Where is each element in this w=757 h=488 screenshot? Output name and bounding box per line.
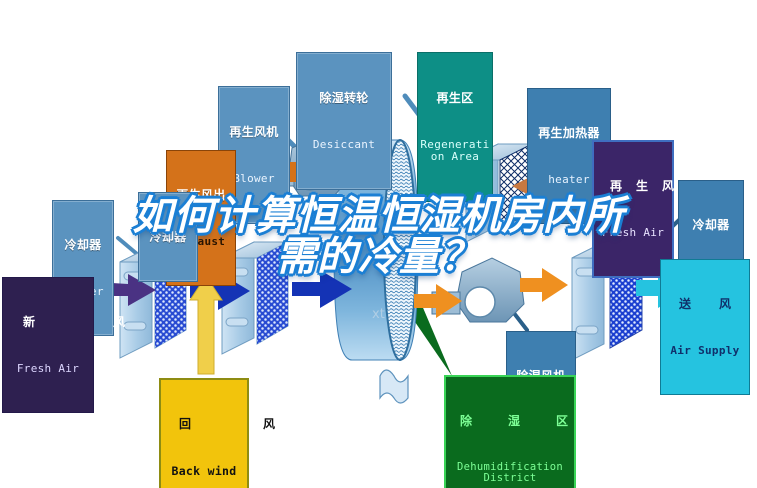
label-fresh-air-in-cn: 新 风 <box>5 316 91 329</box>
label-desiccant-wheel-cn: 除湿转轮 <box>299 92 389 105</box>
headline-line-2: 需的冷量？ <box>0 237 757 278</box>
label-dehumid-area: 除 湿 区 Dehumidification District <box>444 375 576 488</box>
label-air-supply: 送 风 Air Supply <box>660 259 750 395</box>
label-desiccant-wheel-en: Desiccant <box>299 139 389 151</box>
label-regen-area-cn: 再生区 <box>420 92 490 105</box>
headline-line-1: 如何计算恒温恒湿机房内所 <box>133 193 625 239</box>
label-desiccant-wheel: 除湿转轮 Desiccant <box>296 52 392 190</box>
headline-overlay: 如何计算恒温恒湿机房内所 需的冷量？ <box>0 196 757 278</box>
label-back-wind-en: Back wind <box>163 465 245 477</box>
diagram-canvas: xt <box>0 0 757 488</box>
label-regen-area: 再生区 Regenerati on Area <box>417 52 493 202</box>
label-air-supply-en: Air Supply <box>663 345 747 357</box>
label-regen-area-en: Regenerati on Area <box>420 139 490 163</box>
label-fresh-air-in: 新 风 Fresh Air <box>2 277 94 413</box>
label-back-wind: 回 风 Back wind <box>159 378 249 488</box>
label-air-supply-cn: 送 风 <box>663 298 747 311</box>
label-back-wind-cn: 回 风 <box>163 418 245 431</box>
svg-text:xt: xt <box>372 307 385 322</box>
label-dehumid-area-cn: 除 湿 区 <box>448 415 572 428</box>
label-regen-fresh-air-cn: 再生风进 <box>596 180 670 193</box>
label-regen-blower-cn: 再生风机 <box>221 126 287 139</box>
label-regen-heater-cn: 再生加热器 <box>530 127 608 140</box>
label-dehumid-area-en: Dehumidification District <box>448 462 572 485</box>
label-fresh-air-in-en: Fresh Air <box>5 363 91 375</box>
